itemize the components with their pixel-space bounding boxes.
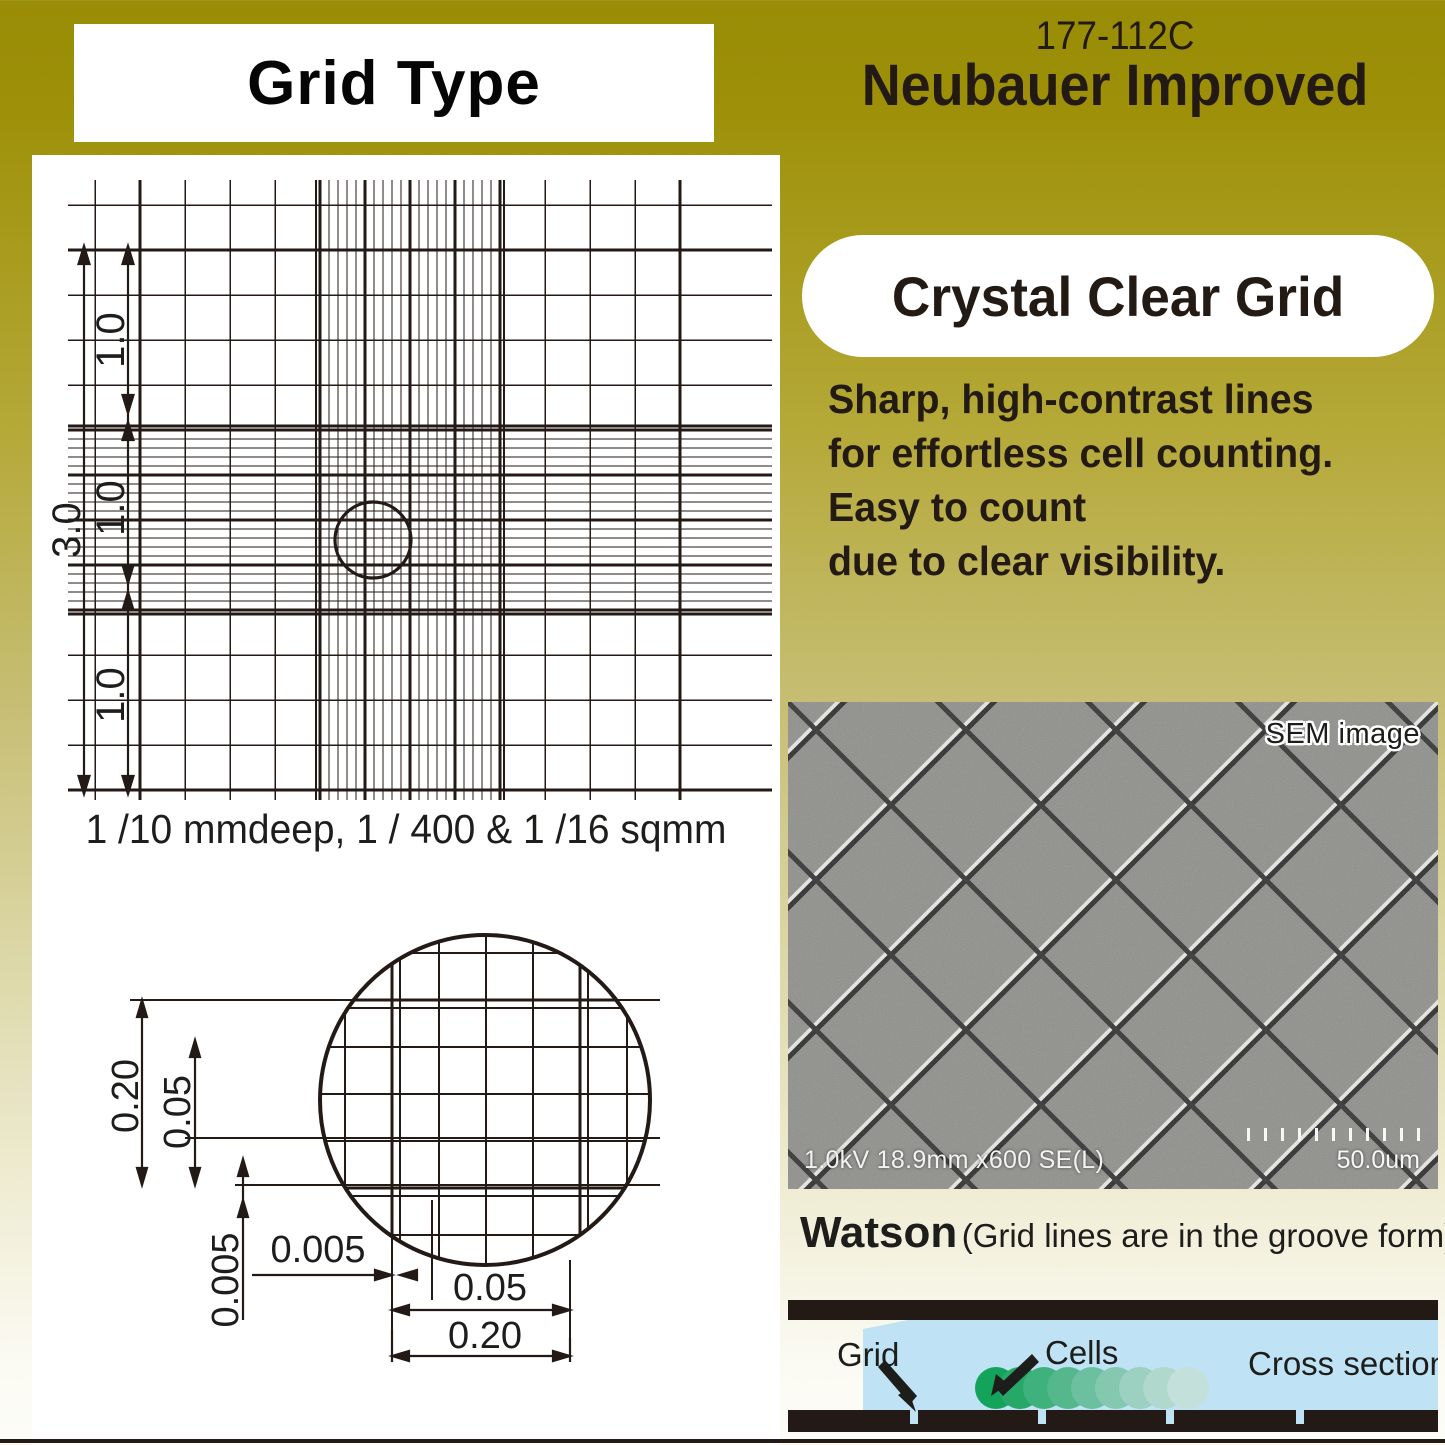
sem-scale-ticks (1247, 1128, 1420, 1141)
product-name: Neubauer Improved (813, 56, 1418, 117)
grid-label: Grid (837, 1336, 899, 1373)
sem-scale-tick (1417, 1128, 1420, 1141)
watson-caption: Watson (Grid lines are in the groove for… (800, 1208, 1445, 1258)
grid-type-title-box: Grid Type (74, 24, 714, 142)
cross-section-label: Cross section (1248, 1345, 1438, 1382)
crystal-clear-grid-pill: Crystal Clear Grid (802, 235, 1434, 357)
detail-dim-small-horizontal: 0.005 (270, 1229, 365, 1271)
detail-dim-inner-horizontal: 0.05 (453, 1267, 527, 1309)
poster-root: 177-112C Neubauer Improved Grid Type (0, 0, 1445, 1445)
feature-description: Sharp, high-contrast lines for effortles… (828, 372, 1423, 588)
grid-detail-diagram: 0.20 0.05 0.005 0.005 0.05 0.20 (100, 900, 780, 1390)
bottom-rule (0, 1439, 1445, 1443)
cells-label: Cells (1045, 1334, 1118, 1371)
crystal-clear-grid-label: Crystal Clear Grid (892, 264, 1344, 329)
cell-circle (1167, 1367, 1209, 1409)
sem-scale-tick (1383, 1128, 1386, 1141)
grid-dim-overall: 3.0 (45, 502, 89, 558)
grid-dim-seg-1: 1.0 (89, 312, 133, 368)
grid-dim-seg-2: 1.0 (89, 480, 133, 536)
sem-scale-tick (1264, 1128, 1267, 1141)
sem-scale-tick (1400, 1128, 1403, 1141)
feature-line-4: due to clear visibility. (828, 534, 1423, 588)
watson-note: (Grid lines are in the groove form) (962, 1217, 1445, 1254)
sem-image: SEM image 1.0kV 18.9mm x600 SE(L) 50.0um (788, 702, 1438, 1189)
detail-dim-outer-horizontal: 0.20 (448, 1315, 522, 1357)
feature-line-2: for effortless cell counting. (828, 426, 1423, 480)
sem-image-badge: SEM image (1266, 718, 1420, 751)
feature-line-3: Easy to count (828, 480, 1423, 534)
sem-scale-tick (1281, 1128, 1284, 1141)
sem-scale-tick (1315, 1128, 1318, 1141)
sem-parameters: 1.0kV 18.9mm x600 SE(L) (804, 1146, 1104, 1175)
sem-grooved-grid-pattern (788, 702, 1438, 1189)
detail-dim-outer-vertical: 0.20 (105, 1059, 147, 1133)
detail-dim-small-vertical: 0.005 (205, 1232, 247, 1327)
sem-scale-tick (1349, 1128, 1352, 1141)
feature-line-1: Sharp, high-contrast lines (828, 372, 1423, 426)
sem-scale-tick (1298, 1128, 1301, 1141)
grid-type-label: Grid Type (247, 48, 541, 119)
coverslip-top (788, 1300, 1438, 1320)
sem-scale-tick (1366, 1128, 1369, 1141)
cross-section-diagram: Grid Cells Cross section (788, 1292, 1438, 1440)
grid-dim-seg-3: 1.0 (89, 667, 133, 723)
sem-scale-tick (1247, 1128, 1250, 1141)
sem-scale-label: 50.0um (1337, 1146, 1420, 1175)
sem-scale-tick (1332, 1128, 1335, 1141)
detail-dim-inner-vertical: 0.05 (157, 1075, 199, 1149)
watson-brand: Watson (800, 1208, 957, 1257)
slide-bottom (788, 1410, 1438, 1432)
grid-caption: 1 /10 mmdeep, 1 / 400 & 1 /16 sqmm (51, 806, 762, 853)
neubauer-grid-diagram: 3.0 1.0 1.0 1.0 (32, 160, 780, 800)
